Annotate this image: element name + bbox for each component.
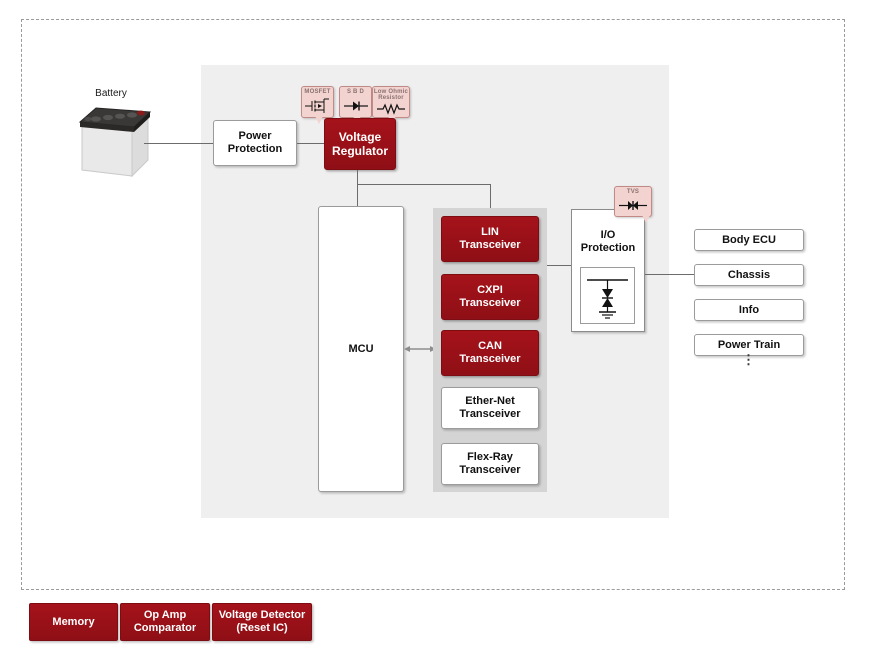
ecu-chassis-label: Chassis bbox=[728, 269, 770, 282]
legend-voltage-detector-box[interactable]: Voltage Detector(Reset IC) bbox=[212, 603, 312, 641]
legend-memory-box[interactable]: Memory bbox=[29, 603, 118, 641]
callout-low-ohmic-resistor: Low Ohmic Resistor bbox=[372, 86, 410, 118]
mcu-label: MCU bbox=[348, 343, 373, 356]
callout-tvs: TVS bbox=[614, 186, 652, 217]
legend-voltage-detector-label: Voltage Detector(Reset IC) bbox=[219, 609, 306, 634]
legend-op-amp-comparator-label: Op AmpComparator bbox=[134, 609, 196, 634]
mosfet-icon bbox=[302, 95, 333, 117]
power-protection-box[interactable]: Power Protection bbox=[213, 120, 297, 166]
ecu-list-ellipsis: ⋮ bbox=[694, 358, 804, 372]
voltage-regulator-box[interactable]: Voltage Regulator bbox=[324, 118, 396, 170]
ecu-power-train-label: Power Train bbox=[718, 339, 780, 352]
lin-transceiver-label: LINTransceiver bbox=[459, 226, 520, 252]
io-protection-schematic bbox=[580, 267, 635, 324]
resistor-icon bbox=[373, 102, 409, 117]
can-transceiver-box[interactable]: CANTransceiver bbox=[441, 330, 539, 376]
battery-label: Battery bbox=[78, 88, 144, 99]
callout-mosfet: MOSFET bbox=[301, 86, 334, 118]
can-transceiver-label: CANTransceiver bbox=[459, 340, 520, 366]
diode-icon bbox=[340, 95, 371, 117]
tvs-diode-icon bbox=[615, 195, 651, 216]
line-transceivers-to-io-protection bbox=[547, 265, 572, 266]
power-protection-label: Power Protection bbox=[214, 130, 296, 156]
ethernet-transceiver-label: Ether-NetTransceiver bbox=[459, 395, 520, 421]
lin-transceiver-box[interactable]: LINTransceiver bbox=[441, 216, 539, 262]
line-regulator-down bbox=[357, 170, 358, 206]
ethernet-transceiver-box[interactable]: Ether-NetTransceiver bbox=[441, 387, 539, 429]
callout-resistor-label: Low Ohmic Resistor bbox=[373, 87, 409, 102]
callout-sbd-label: S B D bbox=[347, 87, 364, 95]
diagram-canvas: Battery Power Protection MOSFET bbox=[0, 0, 891, 649]
ecu-body-ecu-label: Body ECU bbox=[722, 234, 776, 247]
callout-tail bbox=[315, 116, 323, 124]
legend-op-amp-comparator-box[interactable]: Op AmpComparator bbox=[120, 603, 210, 641]
flexray-transceiver-box[interactable]: Flex-RayTransceiver bbox=[441, 443, 539, 485]
legend-memory-label: Memory bbox=[52, 616, 94, 629]
battery-image bbox=[74, 100, 156, 178]
ecu-info-label: Info bbox=[739, 304, 759, 317]
line-battery-to-power-protection bbox=[144, 143, 214, 144]
mcu-can-bus-arrow bbox=[404, 343, 436, 355]
ecu-chassis-box[interactable]: Chassis bbox=[694, 264, 804, 286]
mcu-box[interactable]: MCU bbox=[318, 206, 404, 492]
ecu-info-box[interactable]: Info bbox=[694, 299, 804, 321]
line-regulator-branch bbox=[357, 184, 491, 185]
line-power-protection-to-regulator bbox=[297, 143, 324, 144]
callout-mosfet-label: MOSFET bbox=[304, 87, 330, 95]
callout-tvs-label: TVS bbox=[627, 187, 639, 195]
line-io-protection-to-ecus bbox=[645, 274, 694, 275]
voltage-regulator-label: Voltage Regulator bbox=[325, 130, 395, 158]
line-branch-to-transceivers bbox=[490, 184, 491, 208]
callout-tail bbox=[642, 215, 650, 223]
cxpi-transceiver-box[interactable]: CXPITransceiver bbox=[441, 274, 539, 320]
flexray-transceiver-label: Flex-RayTransceiver bbox=[459, 451, 520, 477]
ecu-body-ecu-box[interactable]: Body ECU bbox=[694, 229, 804, 251]
cxpi-transceiver-label: CXPITransceiver bbox=[459, 284, 520, 310]
callout-sbd: S B D bbox=[339, 86, 372, 118]
